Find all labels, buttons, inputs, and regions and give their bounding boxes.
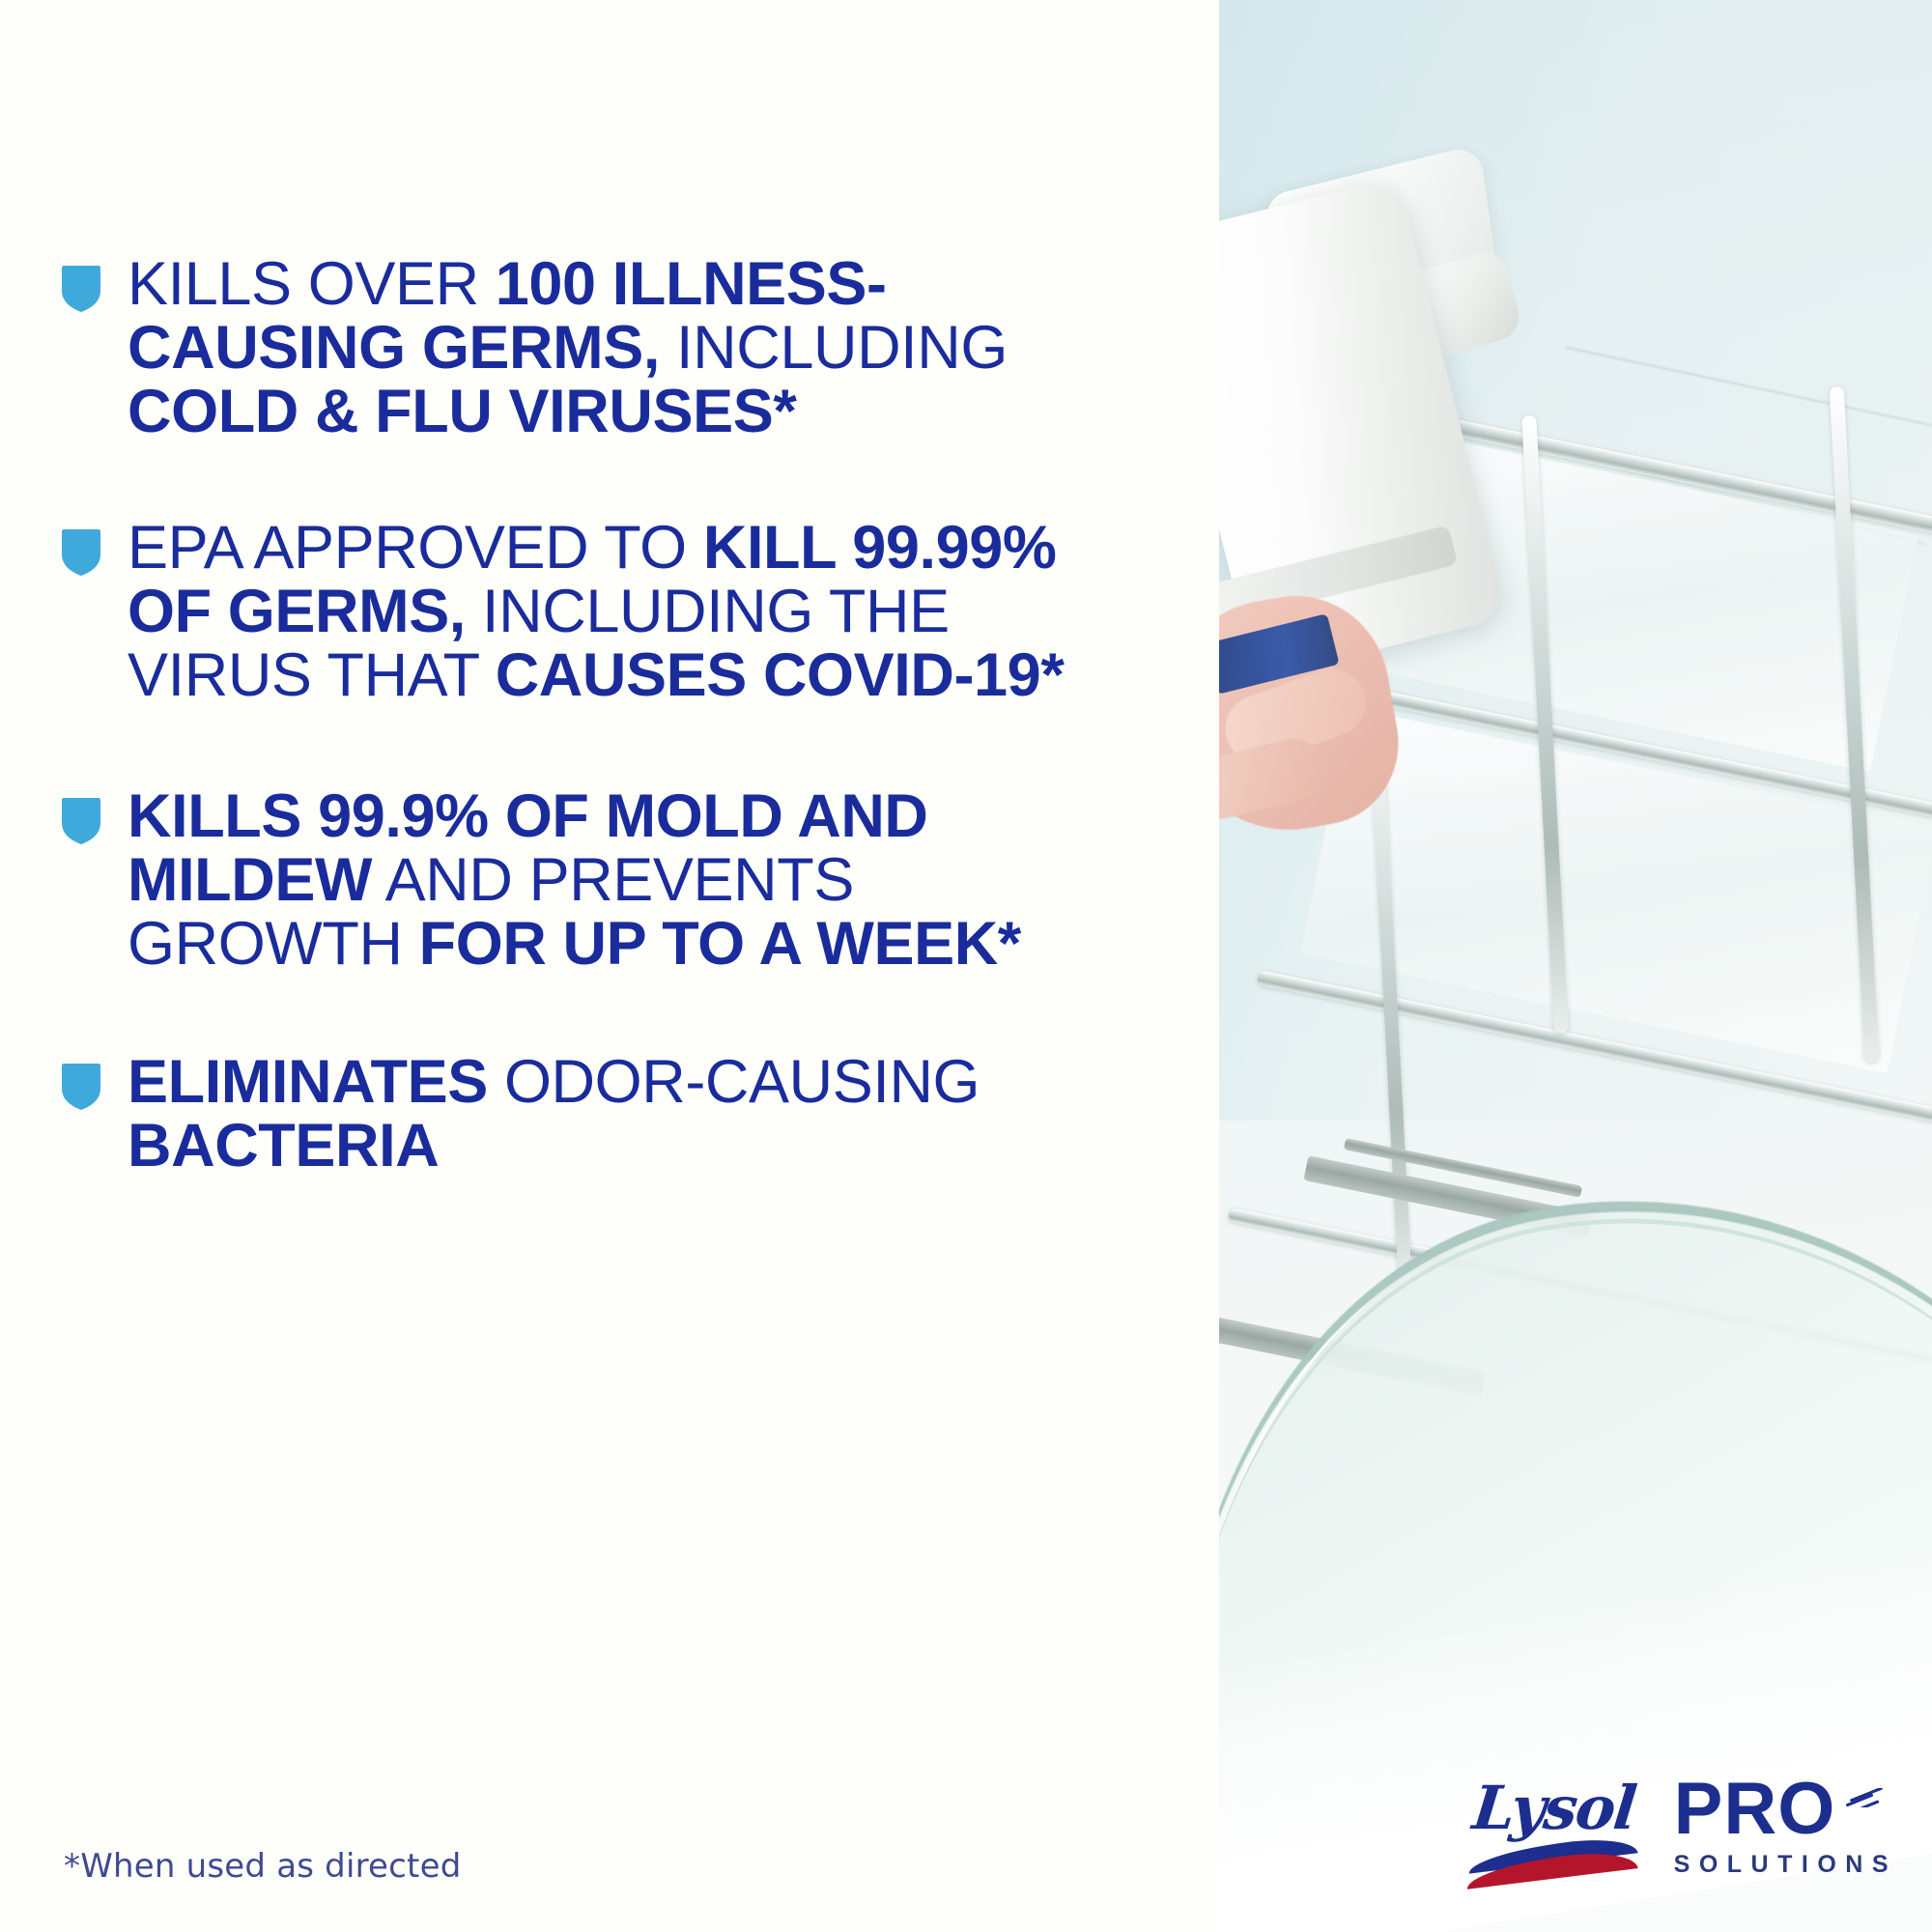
benefit-segment-bold: COLD & FLU VIRUSES* bbox=[128, 378, 796, 445]
benefit-segment: ODOR-CAUSING bbox=[488, 1048, 980, 1116]
benefit-segment: EPA APPROVED TO bbox=[128, 514, 703, 582]
benefit-segment-bold: FOR UP TO A WEEK* bbox=[419, 910, 1021, 978]
benefit-segment-bold: ELIMINATES bbox=[128, 1048, 488, 1116]
list-item: KILLS OVER 100 ILLNESS-CAUSING GERMS, IN… bbox=[60, 253, 1171, 443]
footnote: *When used as directed bbox=[64, 1847, 461, 1886]
benefit-text: EPA APPROVED TO KILL 99.99% OF GERMS, IN… bbox=[128, 517, 1094, 707]
lysol-wordmark: Lysol bbox=[1469, 1773, 1638, 1843]
product-photo: Lysol PRO SOLUTIONS bbox=[1219, 0, 1932, 1932]
shield-icon bbox=[60, 528, 102, 577]
solutions-label: SOLUTIONS bbox=[1674, 1851, 1899, 1879]
benefits-list: KILLS OVER 100 ILLNESS-CAUSING GERMS, IN… bbox=[60, 253, 1171, 1179]
poster: KILLS OVER 100 ILLNESS-CAUSING GERMS, IN… bbox=[0, 0, 1932, 1932]
list-item: KILLS 99.9% OF MOLD AND MILDEW AND PREVE… bbox=[60, 785, 1171, 976]
pro-swoosh-icon bbox=[1845, 1788, 1895, 1807]
benefit-text: KILLS 99.9% OF MOLD AND MILDEW AND PREVE… bbox=[128, 785, 1094, 976]
benefit-text: ELIMINATES ODOR-CAUSING BACTERIA bbox=[128, 1051, 1094, 1179]
brand-logo: Lysol PRO SOLUTIONS bbox=[1445, 1754, 1899, 1899]
pro-solutions-logo: PRO SOLUTIONS bbox=[1674, 1775, 1899, 1878]
benefit-segment: INCLUDING bbox=[660, 314, 1008, 382]
benefit-text: KILLS OVER 100 ILLNESS-CAUSING GERMS, IN… bbox=[128, 253, 1094, 443]
list-item: EPA APPROVED TO KILL 99.99% OF GERMS, IN… bbox=[60, 517, 1171, 707]
benefit-segment: KILLS OVER bbox=[128, 250, 496, 318]
lysol-logo: Lysol bbox=[1467, 1771, 1653, 1883]
shield-icon bbox=[60, 1063, 102, 1111]
list-item: ELIMINATES ODOR-CAUSING BACTERIA bbox=[60, 1051, 1171, 1179]
pro-wordmark: PRO bbox=[1674, 1775, 1899, 1844]
shield-icon bbox=[60, 797, 102, 845]
benefit-segment-bold: CAUSES COVID-19* bbox=[496, 641, 1065, 709]
content-panel: KILLS OVER 100 ILLNESS-CAUSING GERMS, IN… bbox=[0, 0, 1219, 1932]
spray-bottle-icon bbox=[1219, 145, 1586, 821]
pro-label: PRO bbox=[1674, 1768, 1836, 1850]
benefit-segment-bold: BACTERIA bbox=[128, 1112, 439, 1179]
shield-icon bbox=[60, 265, 102, 313]
